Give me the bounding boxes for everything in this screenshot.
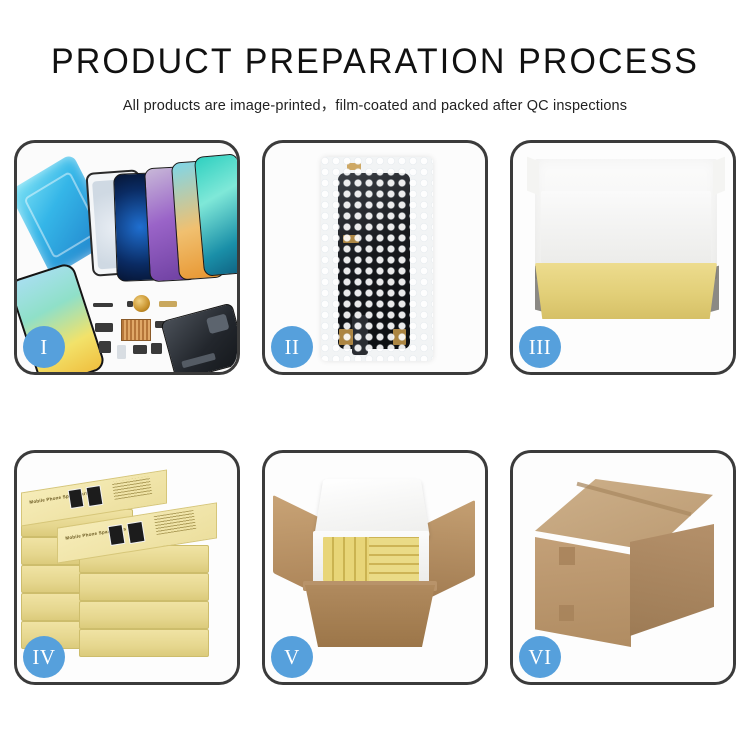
yellow-boxes-row: [369, 537, 419, 581]
step-badge-2: II: [271, 326, 313, 368]
header: PRODUCT PREPARATION PROCESS All products…: [0, 0, 750, 115]
step-badge-1: I: [23, 326, 65, 368]
box-base: [535, 263, 717, 319]
flex-part: [95, 323, 113, 332]
step-badge-6: VI: [519, 636, 561, 678]
foam-lid: [314, 479, 430, 538]
sealed-carton-panel: VI: [510, 450, 736, 685]
flex-part: [159, 301, 177, 307]
box-screen-thumb: [108, 524, 126, 546]
flex-part: [127, 301, 133, 307]
box-screen-thumb: [68, 488, 85, 509]
inner-box-panel: III: [510, 140, 736, 375]
stacked-box: [79, 629, 209, 657]
foam-sheet: [541, 191, 711, 263]
foam-carton-panel: V: [262, 450, 488, 685]
carton-body: [305, 585, 435, 647]
bubble-texture: [321, 157, 433, 361]
stacked-box: [79, 601, 209, 629]
page-subtitle: All products are image-printed，film-coat…: [0, 94, 750, 115]
page-title: PRODUCT PREPARATION PROCESS: [11, 42, 739, 82]
coil-part: [133, 295, 150, 312]
infographic-page: PRODUCT PREPARATION PROCESS All products…: [0, 0, 750, 750]
flex-part: [133, 345, 147, 354]
box-screen-thumb: [86, 485, 104, 507]
carton-front-face: [535, 537, 631, 647]
step-badge-3: III: [519, 326, 561, 368]
carton-tape-mark: [559, 547, 575, 565]
process-grid: I II: [14, 140, 736, 692]
carton-tape-mark: [559, 605, 574, 621]
phone-parts-panel: I: [14, 140, 240, 375]
flex-part: [151, 343, 162, 354]
chip-grid-part: [121, 319, 151, 341]
bubble-wrap-bag: [321, 157, 433, 361]
box-screen-thumb: [126, 521, 145, 544]
flex-part: [93, 303, 113, 307]
bubble-wrap-panel: II: [262, 140, 488, 375]
carton-side-face: [630, 524, 714, 636]
flex-part: [99, 341, 111, 353]
step-badge-5: V: [271, 636, 313, 678]
step-badge-4: IV: [23, 636, 65, 678]
stacked-box: [79, 573, 209, 601]
flex-part: [117, 345, 126, 359]
stacked-boxes-panel: Mobile Phone Spare Parts Mobile Phone Sp…: [14, 450, 240, 685]
